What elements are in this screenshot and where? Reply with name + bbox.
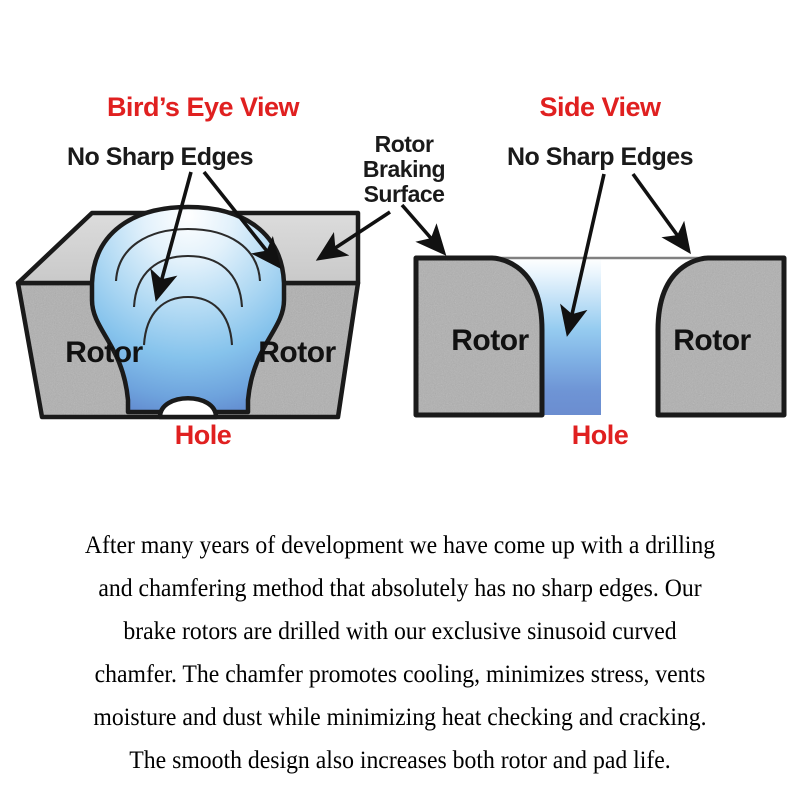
side-view-rotor-label-left: Rotor [451,324,529,357]
side-view-rotor-label-right: Rotor [673,324,751,357]
paragraph-line: brake rotors are drilled with our exclus… [28,609,772,652]
paragraph-line: chamfer. The chamfer promotes cooling, m… [28,652,772,695]
braking-surface-label-line-2: Braking [363,156,445,182]
braking-surface-label-line-3: Surface [364,181,445,207]
diagram-page: Bird’s Eye View No Sharp Edges Rotor Bra… [0,0,800,800]
birds-eye-rotor-label-left: Rotor [65,336,143,369]
birds-eye-hole-notch [160,398,216,417]
description-paragraph: After many years of development we have … [28,523,772,781]
birds-eye-no-sharp-edges-label: No Sharp Edges [67,143,253,171]
birds-eye-rotor-label-right: Rotor [258,336,336,369]
paragraph-line: and chamfering method that absolutely ha… [28,566,772,609]
side-view-no-sharp-edges-label: No Sharp Edges [507,143,693,171]
side-view-group: Side View No Sharp Edges Rotor Rotor Hol… [402,92,784,450]
braking-surface-arrow-side [402,205,443,252]
side-view-title: Side View [539,92,662,122]
braking-surface-label-line-1: Rotor [375,131,434,157]
paragraph-line: moisture and dust while minimizing heat … [28,695,772,738]
side-view-arrow-right [633,174,688,250]
birds-eye-view-group: Bird’s Eye View No Sharp Edges Rotor Bra… [18,92,445,450]
side-view-hole-label: Hole [572,420,629,450]
paragraph-line: After many years of development we have … [28,523,772,566]
birds-eye-hole-label: Hole [175,420,232,450]
paragraph-line: The smooth design also increases both ro… [28,738,772,781]
birds-eye-title: Bird’s Eye View [107,92,301,122]
